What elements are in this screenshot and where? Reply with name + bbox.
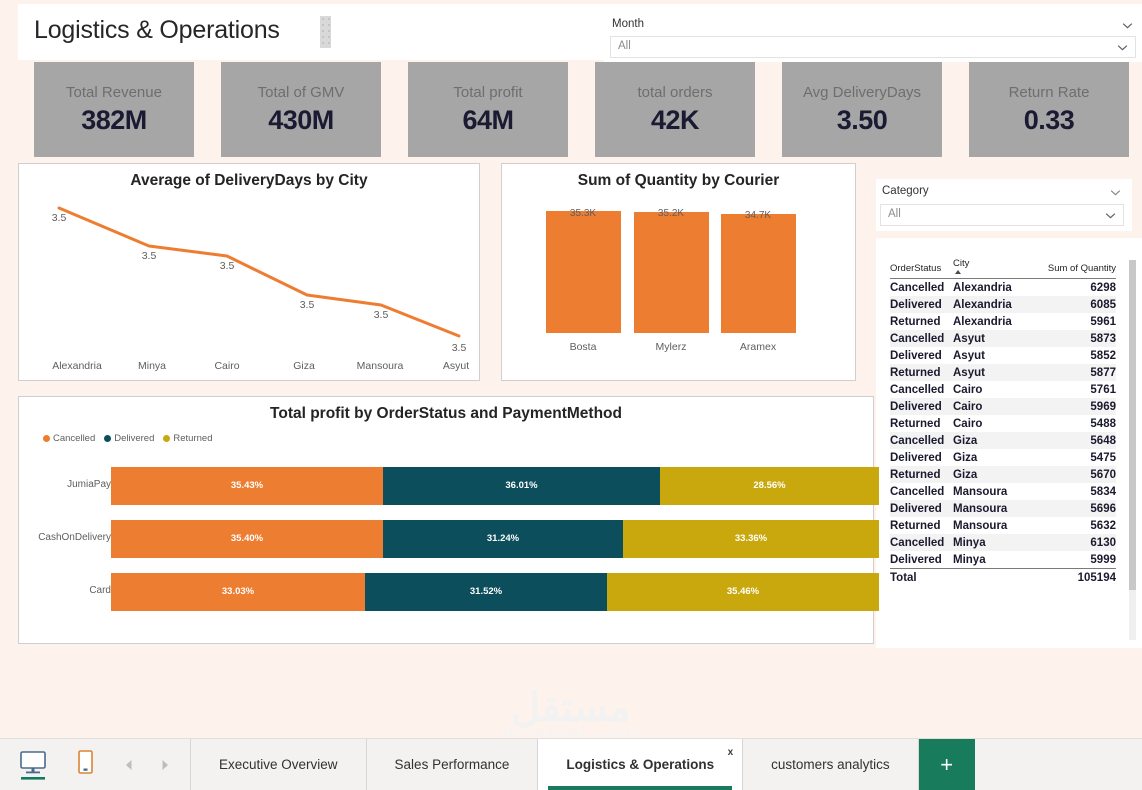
- cell-quantity: 6298: [1038, 279, 1116, 297]
- month-slicer-label: Month: [612, 18, 644, 30]
- previous-page-arrow-icon[interactable]: [122, 758, 136, 772]
- kpi-card-row: Total Revenue 382M Total of GMV 430M Tot…: [34, 62, 1130, 157]
- data-label: 3.5: [300, 299, 315, 311]
- table-row[interactable]: DeliveredAlexandria6085: [890, 296, 1116, 313]
- table-total-row: Total 105194: [890, 569, 1116, 587]
- cell-orderstatus: Delivered: [890, 398, 953, 415]
- legend-swatch-icon: [163, 435, 170, 442]
- kpi-card-avg-deliverydays[interactable]: Avg DeliveryDays 3.50: [782, 62, 942, 157]
- chevron-down-icon[interactable]: [1109, 186, 1122, 199]
- table-row[interactable]: ReturnedAsyut5877: [890, 364, 1116, 381]
- cell-quantity: 5873: [1038, 330, 1116, 347]
- kpi-title: Total Revenue: [66, 84, 162, 101]
- data-label: 3.5: [374, 309, 389, 321]
- data-label: 3.5: [142, 250, 157, 262]
- cell-orderstatus: Cancelled: [890, 330, 953, 347]
- cell-quantity: 5648: [1038, 432, 1116, 449]
- cell-orderstatus: Cancelled: [890, 534, 953, 551]
- cell-quantity: 5999: [1038, 551, 1116, 569]
- column-header-sum-of-quantity[interactable]: Sum of Quantity: [1038, 258, 1116, 279]
- cell-quantity: 5877: [1038, 364, 1116, 381]
- cell-orderstatus: Cancelled: [890, 279, 953, 297]
- watermark-latin: mostaql.com: [0, 724, 1142, 738]
- cell-quantity: 5475: [1038, 449, 1116, 466]
- kpi-title: Return Rate: [1009, 84, 1090, 101]
- sort-ascending-icon: [955, 270, 961, 274]
- table-row[interactable]: CancelledMansoura5834: [890, 483, 1116, 500]
- cell-city: Giza: [953, 466, 1038, 483]
- cell-quantity: 5632: [1038, 517, 1116, 534]
- add-page-button[interactable]: +: [919, 739, 975, 790]
- page-title: Logistics & Operations: [34, 16, 280, 45]
- data-table[interactable]: OrderStatus City Sum of Quantity Cancell…: [890, 258, 1116, 587]
- table-row[interactable]: DeliveredCairo5969: [890, 398, 1116, 415]
- chart-title: Average of DeliveryDays by City: [19, 172, 479, 190]
- column-header-city-label: City: [953, 258, 969, 269]
- cell-city: Cairo: [953, 398, 1038, 415]
- segment-data-label: 31.52%: [365, 586, 607, 597]
- cell-city: Asyut: [953, 347, 1038, 364]
- cell-city: Minya: [953, 534, 1038, 551]
- axis-tick-label: Alexandria: [52, 360, 102, 372]
- legend-item-delivered[interactable]: Delivered: [104, 433, 154, 444]
- cell-city: Cairo: [953, 415, 1038, 432]
- bar-mylerz[interactable]: [634, 212, 709, 333]
- legend-swatch-icon: [43, 435, 50, 442]
- column-header-city[interactable]: City: [953, 258, 1038, 279]
- power-bi-report: Logistics & Operations Month All Total R…: [0, 0, 1142, 790]
- segment-returned[interactable]: 33.36%: [623, 520, 879, 558]
- total-blank: [953, 569, 1038, 587]
- view-mode-group: [0, 739, 191, 790]
- segment-data-label: 33.36%: [623, 533, 879, 544]
- category-slicer-dropdown[interactable]: All: [880, 204, 1124, 226]
- tab-customers-analytics[interactable]: customers analytics: [743, 739, 919, 790]
- month-slicer[interactable]: Month All: [604, 12, 1142, 62]
- cell-city: Mansoura: [953, 483, 1038, 500]
- segment-delivered[interactable]: 31.52%: [365, 573, 607, 611]
- table-row[interactable]: ReturnedCairo5488: [890, 415, 1116, 432]
- tab-sales-performance[interactable]: Sales Performance: [367, 739, 539, 790]
- category-slicer-label: Category: [882, 185, 929, 197]
- cell-orderstatus: Returned: [890, 364, 953, 381]
- cell-city: Minya: [953, 551, 1038, 569]
- segment-cancelled[interactable]: 35.40%: [111, 520, 383, 558]
- table-row[interactable]: CancelledCairo5761: [890, 381, 1116, 398]
- table-row[interactable]: DeliveredMansoura5696: [890, 500, 1116, 517]
- segment-data-label: 35.40%: [111, 533, 383, 544]
- kpi-card-total-orders[interactable]: total orders 42K: [595, 62, 755, 157]
- month-slicer-dropdown[interactable]: All: [610, 36, 1136, 58]
- category-slicer-value: All: [888, 208, 901, 220]
- line-series-deliverydays: [59, 208, 459, 336]
- cell-orderstatus: Returned: [890, 313, 953, 330]
- kpi-value: 64M: [462, 105, 513, 136]
- cell-city: Giza: [953, 449, 1038, 466]
- category-slicer[interactable]: Category All: [876, 179, 1132, 231]
- cell-orderstatus: Delivered: [890, 551, 953, 569]
- tab-label: customers analytics: [771, 757, 890, 772]
- cell-city: Asyut: [953, 330, 1038, 347]
- cell-orderstatus: Returned: [890, 517, 953, 534]
- stacked-bar-plot: JumiaPay 35.43% 36.01% 28.56% CashOnDeli…: [19, 455, 873, 640]
- table-row[interactable]: CancelledAsyut5873: [890, 330, 1116, 347]
- stacked-row-cashondelivery: CashOnDelivery 35.40% 31.24% 33.36%: [19, 520, 873, 558]
- table-row[interactable]: DeliveredMinya5999: [890, 551, 1116, 569]
- next-page-arrow-icon[interactable]: [158, 758, 172, 772]
- table-row[interactable]: CancelledMinya6130: [890, 534, 1116, 551]
- axis-tick-label: Aramex: [740, 341, 776, 353]
- segment-cancelled[interactable]: 35.43%: [111, 467, 383, 505]
- month-slicer-value: All: [618, 40, 631, 52]
- chevron-down-icon[interactable]: [1121, 19, 1134, 32]
- kpi-card-total-revenue[interactable]: Total Revenue 382M: [34, 62, 194, 157]
- table-row[interactable]: DeliveredGiza5475: [890, 449, 1116, 466]
- cell-orderstatus: Cancelled: [890, 381, 953, 398]
- table-row[interactable]: DeliveredAsyut5852: [890, 347, 1116, 364]
- kpi-value: 42K: [651, 105, 699, 136]
- legend-label: Delivered: [114, 433, 154, 444]
- data-label: 3.5: [52, 212, 67, 224]
- axis-tick-label: Cairo: [214, 360, 239, 372]
- cell-quantity: 5852: [1038, 347, 1116, 364]
- desktop-view-icon[interactable]: [18, 748, 48, 782]
- cell-quantity: 6085: [1038, 296, 1116, 313]
- cell-city: Alexandria: [953, 279, 1038, 297]
- kpi-card-total-profit[interactable]: Total profit 64M: [408, 62, 568, 157]
- table-header-row: OrderStatus City Sum of Quantity: [890, 258, 1116, 279]
- kpi-title: Avg DeliveryDays: [803, 84, 921, 101]
- cell-orderstatus: Cancelled: [890, 432, 953, 449]
- cell-quantity: 5488: [1038, 415, 1116, 432]
- kpi-title: Total profit: [453, 84, 522, 101]
- data-label: 34.7K: [745, 210, 771, 221]
- table-row[interactable]: CancelledAlexandria6298: [890, 279, 1116, 297]
- cell-orderstatus: Delivered: [890, 347, 953, 364]
- table-body: CancelledAlexandria6298DeliveredAlexandr…: [890, 279, 1116, 569]
- axis-tick-label: Minya: [138, 360, 166, 372]
- axis-tick-label: JumiaPay: [67, 479, 111, 490]
- axis-tick-label: Bosta: [570, 341, 597, 353]
- data-label: 3.5: [452, 342, 467, 354]
- kpi-card-return-rate[interactable]: Return Rate 0.33: [969, 62, 1129, 157]
- chevron-down-icon[interactable]: [1104, 209, 1117, 222]
- kpi-value: 3.50: [837, 105, 888, 136]
- table-row[interactable]: ReturnedAlexandria5961: [890, 313, 1116, 330]
- data-label: 35.3K: [570, 208, 596, 219]
- segment-data-label: 31.24%: [383, 533, 623, 544]
- table-row[interactable]: CancelledGiza5648: [890, 432, 1116, 449]
- cell-city: Cairo: [953, 381, 1038, 398]
- table-row[interactable]: ReturnedMansoura5632: [890, 517, 1116, 534]
- stacked-row-jumiapay: JumiaPay 35.43% 36.01% 28.56%: [19, 467, 873, 505]
- segment-data-label: 35.46%: [607, 586, 879, 597]
- kpi-title: total orders: [637, 84, 712, 101]
- segment-data-label: 35.43%: [111, 480, 383, 491]
- tab-label: Logistics & Operations: [566, 757, 714, 772]
- kpi-value: 430M: [268, 105, 334, 136]
- cell-quantity: 5696: [1038, 500, 1116, 517]
- axis-tick-label: Giza: [293, 360, 315, 372]
- segment-cancelled[interactable]: 33.03%: [111, 573, 365, 611]
- bar-bosta[interactable]: [546, 211, 621, 333]
- chart-title: Total profit by OrderStatus and PaymentM…: [19, 405, 873, 423]
- axis-tick-label: Asyut: [443, 360, 469, 372]
- category-axis: Alexandria Minya Cairo Giza Mansoura Asy…: [19, 360, 479, 378]
- kpi-value: 382M: [81, 105, 147, 136]
- line-chart-plot: [19, 190, 479, 355]
- stacked-row-card: Card 33.03% 31.52% 35.46%: [19, 573, 873, 611]
- cell-orderstatus: Delivered: [890, 449, 953, 466]
- cell-quantity: 5969: [1038, 398, 1116, 415]
- cell-orderstatus: Delivered: [890, 500, 953, 517]
- kpi-title: Total of GMV: [258, 84, 345, 101]
- kpi-card-total-gmv[interactable]: Total of GMV 430M: [221, 62, 381, 157]
- table-row[interactable]: ReturnedGiza5670: [890, 466, 1116, 483]
- axis-tick-label: Mansoura: [357, 360, 404, 372]
- cell-quantity: 6130: [1038, 534, 1116, 551]
- kpi-value: 0.33: [1024, 105, 1075, 136]
- axis-tick-label: Card: [89, 585, 111, 596]
- cell-city: Alexandria: [953, 313, 1038, 330]
- legend-item-returned[interactable]: Returned: [163, 433, 212, 444]
- segment-delivered[interactable]: 36.01%: [383, 467, 660, 505]
- table-scrollbar[interactable]: [1129, 260, 1136, 640]
- data-label: 3.5: [220, 260, 235, 272]
- stacked-bar-chart-total-profit-by-orderstatus-and-paymentmethod[interactable]: Total profit by OrderStatus and PaymentM…: [18, 396, 874, 644]
- table-scrollbar-thumb[interactable]: [1129, 260, 1136, 590]
- axis-tick-label: Mylerz: [656, 341, 687, 353]
- total-label: Total: [890, 569, 953, 587]
- bar-aramex[interactable]: [721, 214, 796, 333]
- chart-title: Sum of Quantity by Courier: [502, 172, 855, 190]
- tab-label: Sales Performance: [395, 757, 510, 772]
- cell-city: Alexandria: [953, 296, 1038, 313]
- column-header-orderstatus[interactable]: OrderStatus: [890, 258, 953, 279]
- cell-city: Giza: [953, 432, 1038, 449]
- data-label: 35.2K: [658, 208, 684, 219]
- cell-quantity: 5834: [1038, 483, 1116, 500]
- chevron-down-icon[interactable]: [1116, 41, 1129, 54]
- cell-city: Asyut: [953, 364, 1038, 381]
- cell-orderstatus: Cancelled: [890, 483, 953, 500]
- page-tabs: Executive Overview Sales Performance Log…: [191, 739, 919, 790]
- table-visual-orderstatus-city-quantity[interactable]: OrderStatus City Sum of Quantity Cancell…: [876, 238, 1142, 648]
- segment-returned[interactable]: 35.46%: [607, 573, 879, 611]
- legend-swatch-icon: [104, 435, 111, 442]
- bottom-bar: Executive Overview Sales Performance Log…: [0, 738, 1142, 790]
- axis-tick-label: CashOnDelivery: [38, 532, 111, 543]
- tab-executive-overview[interactable]: Executive Overview: [191, 739, 367, 790]
- cell-city: Mansoura: [953, 500, 1038, 517]
- cell-orderstatus: Returned: [890, 466, 953, 483]
- cell-city: Mansoura: [953, 517, 1038, 534]
- total-value: 105194: [1038, 569, 1116, 587]
- cell-orderstatus: Delivered: [890, 296, 953, 313]
- cell-quantity: 5961: [1038, 313, 1116, 330]
- segment-data-label: 28.56%: [660, 480, 879, 491]
- segment-delivered[interactable]: 31.24%: [383, 520, 623, 558]
- line-chart-average-deliverydays-by-city[interactable]: Average of DeliveryDays by City 3.5 3.5 …: [18, 163, 480, 381]
- legend-item-cancelled[interactable]: Cancelled: [43, 433, 95, 444]
- report-canvas: Logistics & Operations Month All Total R…: [0, 0, 1142, 738]
- mobile-view-icon[interactable]: [70, 748, 100, 782]
- segment-returned[interactable]: 28.56%: [660, 467, 879, 505]
- watermark-arabic: مستقل: [0, 688, 1142, 728]
- resize-grip-handle[interactable]: [320, 16, 331, 48]
- legend-label: Returned: [173, 433, 212, 444]
- bar-chart-plot: 35.3K 35.2K 34.7K Bosta Mylerz Aramex: [502, 192, 855, 357]
- watermark: مستقل mostaql.com: [0, 688, 1142, 738]
- tab-logistics-operations[interactable]: Logistics & Operations x: [538, 739, 743, 790]
- chart-legend: Cancelled Delivered Returned: [43, 433, 212, 444]
- legend-label: Cancelled: [53, 433, 95, 444]
- cell-quantity: 5670: [1038, 466, 1116, 483]
- bar-chart-sum-of-quantity-by-courier[interactable]: Sum of Quantity by Courier 35.3K 35.2K 3…: [501, 163, 856, 381]
- segment-data-label: 33.03%: [111, 586, 365, 597]
- tab-label: Executive Overview: [219, 757, 338, 772]
- cell-orderstatus: Returned: [890, 415, 953, 432]
- segment-data-label: 36.01%: [383, 480, 660, 491]
- close-icon[interactable]: x: [728, 747, 734, 758]
- cell-quantity: 5761: [1038, 381, 1116, 398]
